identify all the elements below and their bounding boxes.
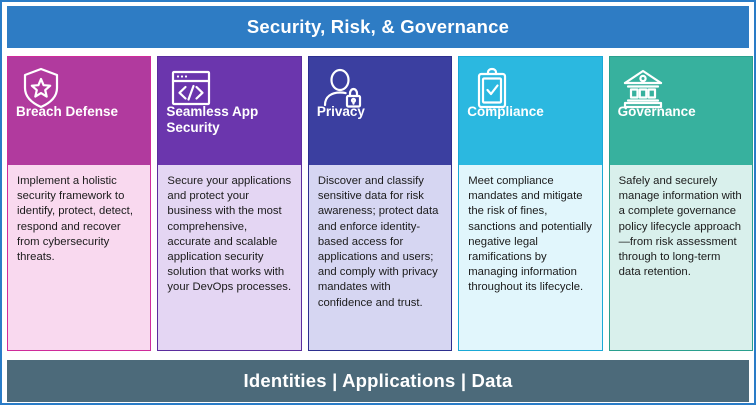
pillar-header-seamless-app-security: Seamless App Security (158, 57, 300, 165)
pillar-columns: Breach Defense Implement a holistic secu… (7, 56, 753, 351)
pillar-card-compliance[interactable]: Compliance Meet compliance mandates and … (458, 56, 602, 351)
pillar-body-breach-defense: Implement a holistic security framework … (8, 165, 150, 350)
footer-title: Identities | Applications | Data (244, 370, 513, 392)
pillar-title-breach-defense: Breach Defense (16, 104, 146, 120)
pillar-card-governance[interactable]: Governance Safely and securely manage in… (609, 56, 753, 351)
pillar-header-governance: Governance (610, 57, 752, 165)
pillar-header-compliance: Compliance (459, 57, 601, 165)
pillar-title-seamless-app-security: Seamless App Security (166, 104, 296, 136)
page-title: Security, Risk, & Governance (247, 16, 509, 38)
pillar-header-breach-defense: Breach Defense (8, 57, 150, 165)
bottom-banner: Identities | Applications | Data (7, 360, 749, 402)
pillar-body-governance: Safely and securely manage information w… (610, 165, 752, 350)
pillar-card-breach-defense[interactable]: Breach Defense Implement a holistic secu… (7, 56, 151, 351)
pillar-card-privacy[interactable]: Privacy Discover and classify sensitive … (308, 56, 452, 351)
pillar-body-seamless-app-security: Secure your applications and protect you… (158, 165, 300, 350)
pillar-body-compliance: Meet compliance mandates and mitigate th… (459, 165, 601, 350)
infographic-page: Security, Risk, & Governance Breach Defe… (0, 0, 756, 405)
pillar-card-seamless-app-security[interactable]: Seamless App Security Secure your applic… (157, 56, 301, 351)
pillar-title-privacy: Privacy (317, 104, 447, 120)
pillar-header-privacy: Privacy (309, 57, 451, 165)
top-banner: Security, Risk, & Governance (7, 6, 749, 48)
pillar-body-privacy: Discover and classify sensitive data for… (309, 165, 451, 350)
pillar-title-governance: Governance (618, 104, 748, 120)
pillar-title-compliance: Compliance (467, 104, 597, 120)
